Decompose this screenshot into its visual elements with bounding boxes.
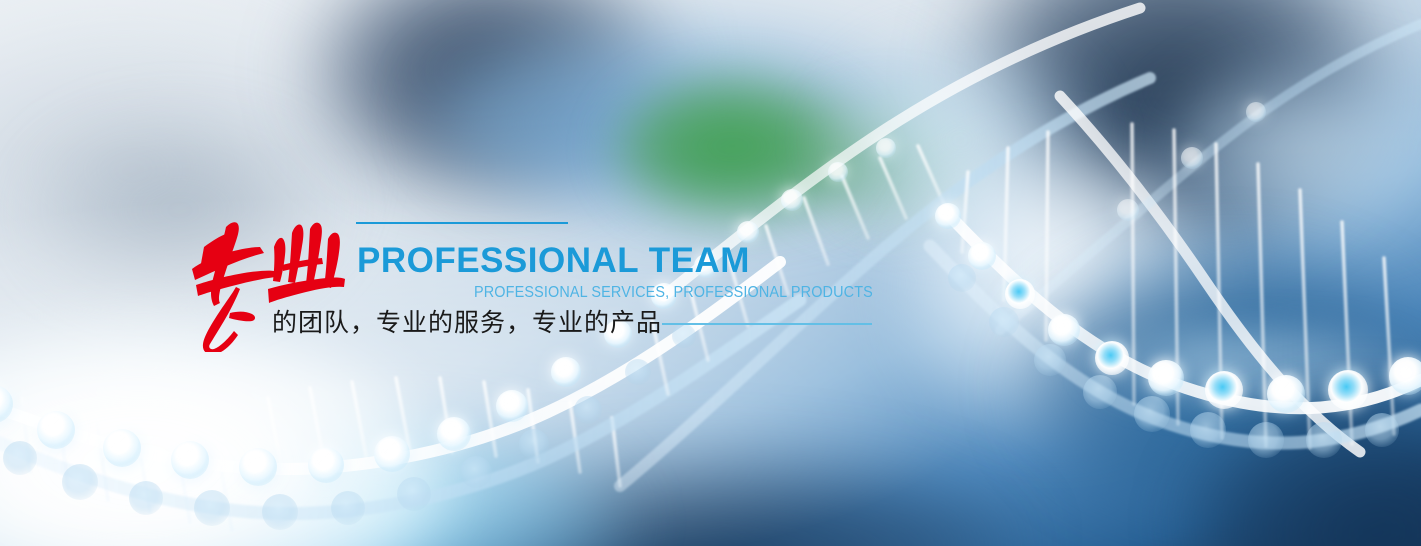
slogan-chinese: 的团队，专业的服务，专业的产品: [272, 308, 662, 338]
dna-nodes-lower-back: [3, 324, 696, 530]
promo-banner: PROFESSIONAL TEAM PROFESSIONAL SERVICES,…: [0, 0, 1421, 546]
bg-blob-glassware: [900, 150, 1230, 440]
dna-rungs-lower: [268, 378, 620, 486]
bg-blob-navy-right: [960, 0, 1390, 240]
bg-blob-navy-left: [300, 0, 680, 200]
dna-rungs-back: [0, 392, 232, 530]
bg-blob-white-glow: [0, 330, 450, 546]
bg-blob-steel-slab: [430, 10, 950, 220]
bg-blob-green-spill: [800, 100, 980, 220]
bg-blob-cyan-pool: [150, 430, 630, 546]
dna-rungs-right: [962, 124, 1394, 448]
decorative-rule-bottom: [662, 323, 872, 325]
dna-strand-right-back: [930, 246, 1421, 443]
bg-blob-navy-trough: [380, 455, 1020, 546]
dna-strand-cross-ascend: [1000, 24, 1421, 330]
bg-blob-corner-navy: [1190, 400, 1421, 546]
subheadline-english: PROFESSIONAL SERVICES, PROFESSIONAL PROD…: [474, 285, 873, 301]
dna-nodes-crossing: [1117, 102, 1266, 221]
bg-blob-top-right-light: [1170, 60, 1421, 240]
bg-blob-green: [612, 74, 862, 224]
decorative-rule-top: [356, 222, 568, 224]
bg-blob-light-band: [1080, 330, 1421, 400]
dna-nodes-right-back: [948, 264, 1399, 458]
headline-english: PROFESSIONAL TEAM: [357, 243, 750, 278]
bg-blob-blue-pane: [1020, 250, 1421, 520]
bg-blob-cyan-highlight: [830, 40, 1090, 240]
dna-strand-cross-descend: [1060, 96, 1360, 452]
dna-strand-center-back: [620, 78, 1150, 486]
dna-strand-right-front: [946, 212, 1421, 408]
banner-copy: PROFESSIONAL TEAM PROFESSIONAL SERVICES,…: [0, 0, 1421, 546]
dna-nodes-right-front: [935, 203, 1421, 413]
